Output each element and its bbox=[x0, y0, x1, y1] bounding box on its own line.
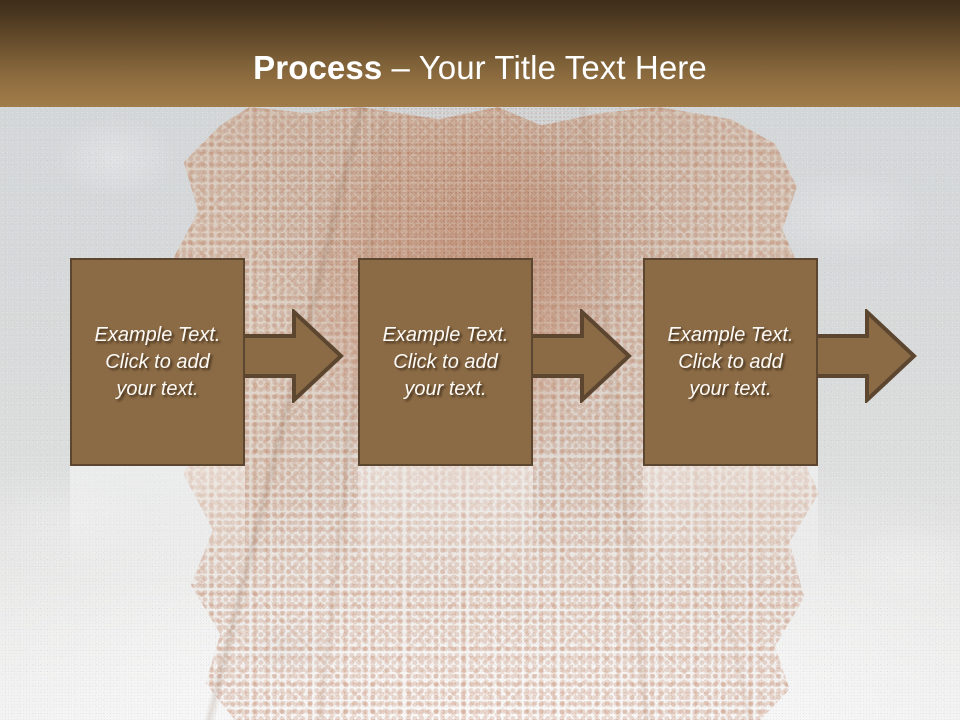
process-step-box-3[interactable]: Example Text. Click to add your text. bbox=[643, 258, 818, 466]
process-step-box-2[interactable]: Example Text. Click to add your text. bbox=[358, 258, 533, 466]
page-title-bold: Process bbox=[253, 49, 382, 86]
box-reflection-1 bbox=[70, 466, 245, 586]
page-title-separator: – bbox=[382, 49, 418, 86]
process-step-text-3[interactable]: Example Text. Click to add your text. bbox=[660, 322, 802, 403]
arrow-right-icon-1[interactable] bbox=[240, 309, 344, 403]
box-reflection-2 bbox=[358, 466, 533, 586]
process-step-box-1[interactable]: Example Text. Click to add your text. bbox=[70, 258, 245, 466]
slide-canvas: Process – Your Title Text Here Example T… bbox=[0, 0, 960, 720]
page-title: Process – Your Title Text Here bbox=[0, 48, 960, 88]
title-banner: Process – Your Title Text Here bbox=[0, 0, 960, 107]
box-reflection-3 bbox=[643, 466, 818, 586]
arrow-right-icon-3[interactable] bbox=[813, 309, 917, 403]
process-step-text-1[interactable]: Example Text. Click to add your text. bbox=[87, 322, 229, 403]
page-title-rest: Your Title Text Here bbox=[419, 49, 707, 86]
arrow-right-icon-2[interactable] bbox=[528, 309, 632, 403]
process-step-text-2[interactable]: Example Text. Click to add your text. bbox=[375, 322, 517, 403]
